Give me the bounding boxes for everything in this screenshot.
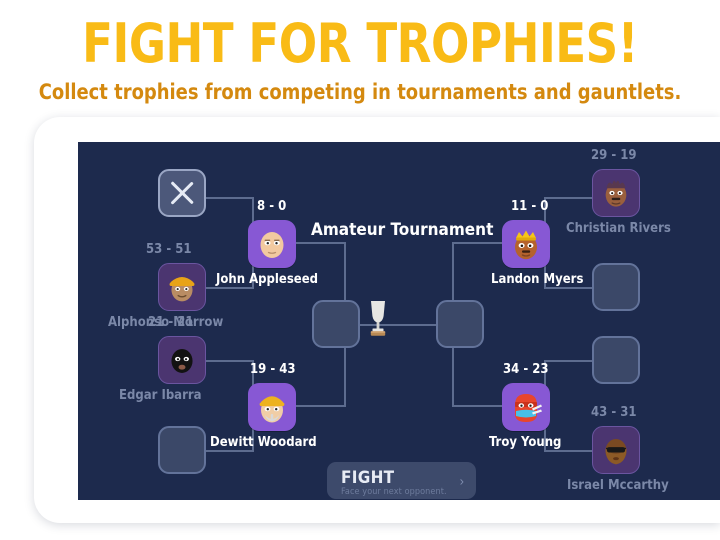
bracket-slot-israel-mccarthy[interactable]	[592, 426, 640, 474]
name-john-appleseed: John Appleseed	[216, 272, 318, 287]
name-landon-myers: Landon Myers	[491, 272, 583, 287]
bracket-slot-edgar-ibarra[interactable]	[158, 336, 206, 384]
bracket-slot-empty-bottom-left[interactable]	[158, 426, 206, 474]
bracket-line	[206, 450, 254, 452]
score-dewitt-woodard: 19 - 43	[250, 362, 296, 377]
bracket-line	[296, 242, 346, 244]
bracket-slot-semifinal-right[interactable]	[436, 300, 484, 348]
bracket-slot-christian-rivers[interactable]	[592, 169, 640, 217]
headline: FIGHT FOR TROPHIES!	[25, 16, 695, 72]
bracket-slot-empty-top-left[interactable]	[158, 169, 206, 217]
tournament-bracket-screen: 53 - 51 Alphonso Morrow 21 - 21 Edgar Ib…	[78, 142, 720, 500]
fight-button[interactable]: FIGHT Face your next opponent. ›	[327, 462, 476, 499]
bracket-line	[452, 242, 502, 244]
bracket-line	[296, 405, 346, 407]
bracket-line	[544, 360, 592, 362]
avatar-mohawk-man	[593, 170, 639, 216]
bracket-line	[544, 450, 592, 452]
bracket-slot-alphonso-morrow[interactable]	[158, 263, 206, 311]
fight-button-label: FIGHT	[341, 468, 394, 488]
bracket-slot-semifinal-left[interactable]	[312, 300, 360, 348]
score-edgar-ibarra: 21 - 21	[148, 315, 194, 330]
avatar-red-ninja	[502, 383, 550, 431]
score-alphonso-morrow: 53 - 51	[146, 242, 192, 257]
name-edgar-ibarra: Edgar Ibarra	[119, 388, 202, 403]
bracket-line	[206, 197, 254, 199]
avatar-masked-man	[159, 337, 205, 383]
bracket-line	[206, 287, 254, 289]
promo-header: FIGHT FOR TROPHIES! Collect trophies fro…	[0, 0, 720, 118]
bracket-line	[452, 405, 502, 407]
close-x-icon	[160, 171, 204, 215]
bracket-slot-troy-young[interactable]	[502, 383, 550, 431]
avatar-crown-man	[502, 220, 550, 268]
avatar-bald-man	[248, 220, 296, 268]
score-john-appleseed: 8 - 0	[257, 199, 286, 214]
score-christian-rivers: 29 - 19	[591, 148, 637, 163]
bracket-line	[544, 287, 592, 289]
name-dewitt-woodard: Dewitt Woodard	[210, 435, 317, 450]
device-frame: 53 - 51 Alphonso Morrow 21 - 21 Edgar Ib…	[34, 117, 720, 523]
bracket-slot-john-appleseed[interactable]	[248, 220, 296, 268]
score-troy-young: 34 - 23	[503, 362, 549, 377]
tournament-title: Amateur Tournament	[311, 220, 493, 240]
bracket-line	[206, 360, 254, 362]
score-landon-myers: 11 - 0	[511, 199, 548, 214]
bracket-slot-landon-myers[interactable]	[502, 220, 550, 268]
trophy-icon	[366, 297, 390, 339]
fight-button-subtitle: Face your next opponent.	[341, 487, 447, 497]
bracket-slot-dewitt-woodard[interactable]	[248, 383, 296, 431]
avatar-hardhat-beard-man	[248, 383, 296, 431]
bracket-slot-empty-top-right[interactable]	[592, 263, 640, 311]
name-christian-rivers: Christian Rivers	[566, 221, 671, 236]
chevron-right-icon: ›	[460, 474, 464, 487]
subheadline: Collect trophies from competing in tourn…	[18, 80, 702, 104]
bracket-line	[394, 324, 436, 326]
avatar-hardhat-man	[159, 264, 205, 310]
name-israel-mccarthy: Israel Mccarthy	[567, 478, 669, 493]
avatar-sunglasses-beard-man	[593, 427, 639, 473]
bracket-line	[544, 197, 592, 199]
bracket-slot-empty-mid-right[interactable]	[592, 336, 640, 384]
score-israel-mccarthy: 43 - 31	[591, 405, 637, 420]
name-troy-young: Troy Young	[489, 435, 561, 450]
